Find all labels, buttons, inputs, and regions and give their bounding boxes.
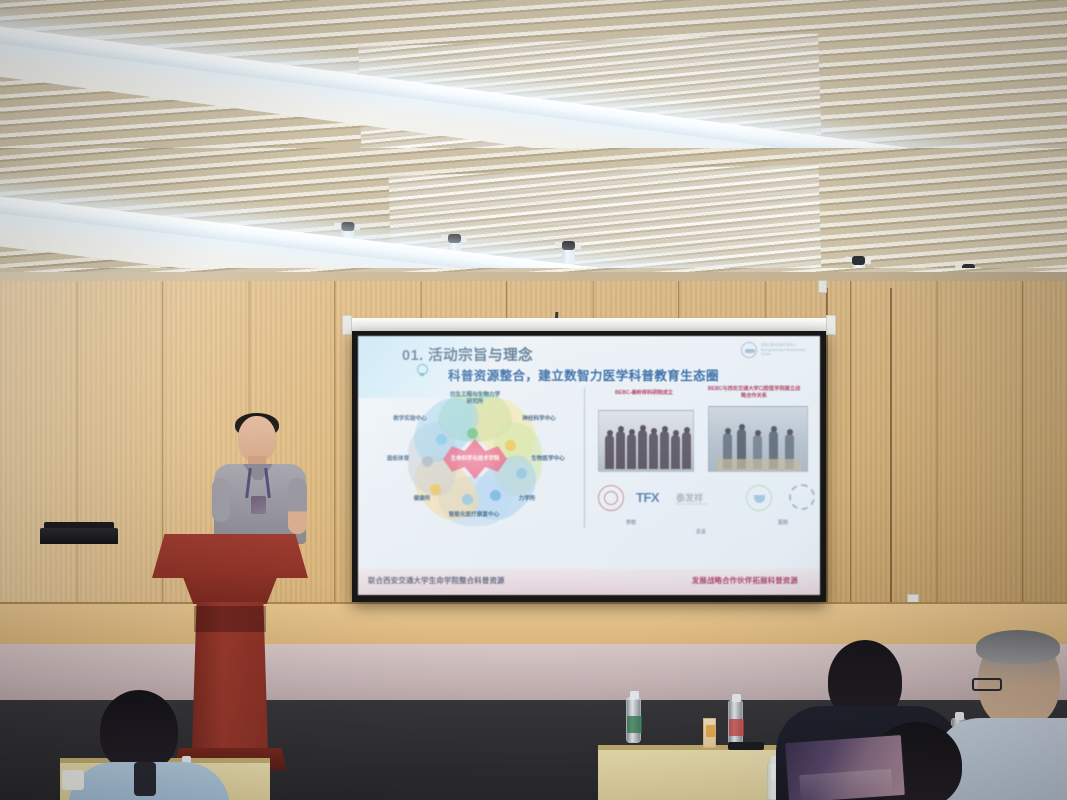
- water-bottle[interactable]: [626, 697, 641, 743]
- photo-caption: BEBC与西安交通大学口腔医学院建立战略合作关系: [706, 386, 802, 400]
- bottle-label: [729, 719, 744, 736]
- dental-logo-icon: [789, 484, 815, 510]
- tfx-logo-text: TFX: [636, 490, 659, 505]
- projector-screen-case: [346, 318, 832, 331]
- tfx-logo-sub: TAI FA XIANG GROUP: [676, 502, 707, 506]
- hospital-logo-icon: [598, 485, 624, 511]
- podium-shadow: [194, 606, 266, 632]
- slide-title: 01. 活动宗旨与理念: [402, 344, 533, 365]
- category-label-enterprise: 企业: [696, 528, 706, 535]
- ceiling: [0, 0, 1067, 300]
- child-backpack-strap: [134, 762, 156, 796]
- person-hair: [976, 630, 1060, 664]
- partner-logos-row: TFX 泰发祥 TAI FA XIANG GROUP: [594, 483, 820, 517]
- tablet-screen[interactable]: [784, 734, 906, 800]
- wheel-label: 仿生工程与生物力学研究所: [449, 392, 501, 407]
- wheel-label: 智能化医疗康复中心: [448, 512, 500, 519]
- group-photo: [598, 410, 694, 472]
- slide-org-logo: 生物工程与生物力学中心 Bioengineering & Biomechanic…: [741, 342, 813, 358]
- speaker-left-arm: [212, 478, 230, 522]
- podium-neck: [176, 576, 284, 604]
- wheel-node-icon: [516, 468, 527, 479]
- water-bottle[interactable]: [728, 700, 743, 746]
- wheel-hub-label: 生命科学与技术学院: [451, 456, 500, 463]
- care-logo-icon: [746, 485, 772, 511]
- footer-text-right: 发展战略合作伙伴拓展科普资源: [692, 575, 798, 586]
- wheel-label: 神经科学中心: [513, 416, 565, 423]
- wheel-node-icon: [462, 494, 473, 505]
- wheel-node-icon: [430, 484, 441, 495]
- wheel-label: 生物医学中心: [522, 456, 574, 463]
- speaker-lanyard: [246, 468, 270, 502]
- podium-top: [152, 534, 308, 578]
- bottle-label: [627, 716, 642, 733]
- screen-bracket-right: [826, 315, 836, 335]
- slide-subtitle: 科普资源整合，建立数智力医学科普教育生态圈: [448, 365, 719, 384]
- photo-caption: BEBC-秦岭样科研院成立: [596, 390, 692, 397]
- wheel-label: 力学所: [501, 496, 553, 503]
- logo-caption: 生物工程与生物力学中心 Bioengineering & Biomechanic…: [761, 343, 813, 356]
- category-label-hospital: 医院: [778, 519, 788, 526]
- speaker-badge: [251, 496, 266, 514]
- podium-laptop[interactable]: [40, 528, 118, 544]
- glasses-icon: [972, 678, 1002, 691]
- phone[interactable]: [728, 742, 764, 750]
- speaker-person: [212, 416, 308, 546]
- projection-screen: 01. 活动宗旨与理念 生物工程与生物力学中心 Bioengineering &…: [352, 331, 826, 602]
- bottle-cap: [732, 694, 741, 702]
- audience-child: [82, 690, 212, 800]
- wheel-node-icon: [436, 434, 447, 445]
- ecosystem-wheel-diagram: 生命科学与技术学院 仿生工程与生物力学研究所 神经科学中心 生物医学中心 力学所…: [370, 384, 580, 534]
- wheel-node-icon: [505, 440, 516, 451]
- slide-divider: [584, 388, 585, 528]
- bottle-cap: [630, 691, 639, 699]
- lightbulb-icon: [415, 364, 428, 377]
- category-label-school: 学校: [626, 519, 636, 526]
- juice-box[interactable]: [703, 718, 716, 748]
- footer-text-left: 联合西安交通大学生命学院整合科普资源: [368, 575, 505, 586]
- table-edge: [598, 745, 798, 750]
- speaker-right-arm: [288, 478, 307, 534]
- wheel-label: 教学实验中心: [384, 416, 436, 423]
- screen-bracket-left: [342, 315, 352, 335]
- presentation-slide: 01. 活动宗旨与理念 生物工程与生物力学中心 Bioengineering &…: [358, 336, 820, 595]
- wheel-node-icon: [490, 490, 501, 501]
- logo-ring-icon: [741, 342, 757, 358]
- wheel-node-icon: [467, 428, 478, 439]
- photograph-scene: 01. 活动宗旨与理念 生物工程与生物力学中心 Bioengineering &…: [0, 0, 1067, 800]
- wheel-label: 健康所: [396, 496, 448, 503]
- cup[interactable]: [62, 770, 84, 790]
- signing-ceremony-photo: [708, 406, 808, 472]
- wheel-label: 造纸体育: [372, 456, 424, 463]
- child-head: [100, 690, 178, 772]
